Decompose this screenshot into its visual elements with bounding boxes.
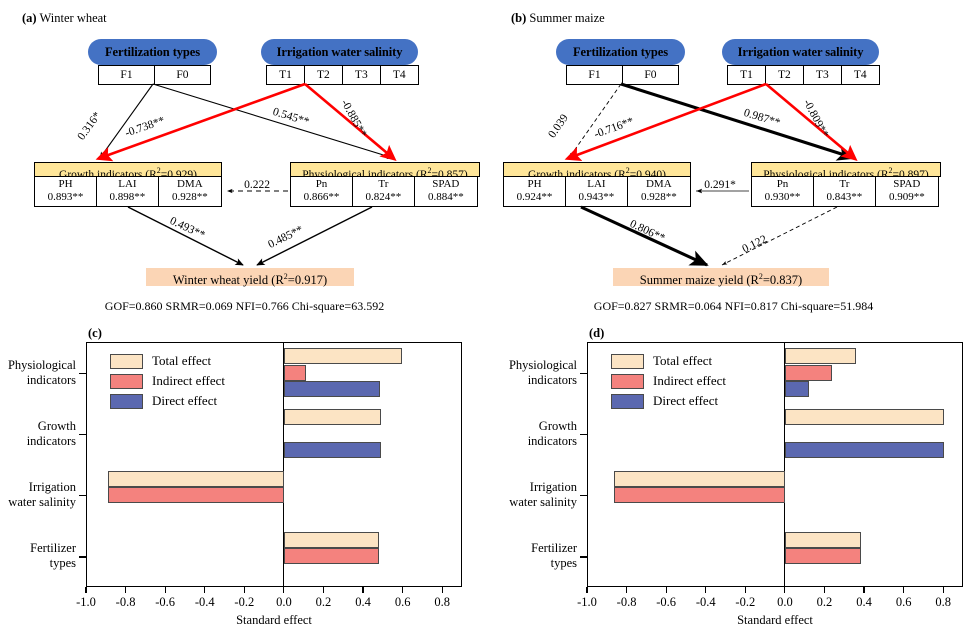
- panel-c-caption: (c): [88, 326, 102, 341]
- x-tick: [362, 587, 363, 593]
- legend-item: Direct effect: [611, 391, 726, 411]
- bar-direct-effect: [284, 381, 380, 397]
- path-label-salinity-growth-a: 0.545**: [271, 106, 310, 128]
- x-tick: [626, 587, 627, 593]
- path-physiological-yield-b: [722, 207, 837, 265]
- x-tick-label: 0.8: [917, 595, 969, 610]
- legend-swatch-direct-effect: [110, 394, 143, 409]
- y-axis-category-label: Physiologicalindicators: [489, 358, 577, 388]
- path-label-fert-physiological-b: -0.716**: [593, 115, 636, 140]
- path-label-salinity-growth-b: 0.987**: [742, 107, 781, 129]
- legend-item: Total effect: [110, 351, 225, 371]
- fit-statistics-a: GOF=0.860 SRMR=0.069 NFI=0.766 Chi-squar…: [0, 299, 489, 314]
- bar-total-effect: [614, 471, 785, 487]
- x-tick-label: 0.8: [416, 595, 468, 610]
- bar-total-effect: [785, 532, 861, 548]
- x-tick: [666, 587, 667, 593]
- x-tick: [442, 587, 443, 593]
- path-label-fert-growth-b: 0.039: [546, 112, 571, 140]
- bar-direct-effect: [785, 442, 945, 458]
- legend-label: Indirect effect: [653, 373, 726, 389]
- legend-item: Direct effect: [110, 391, 225, 411]
- y-tick: [580, 434, 587, 435]
- path-growth-yield-a: [128, 207, 243, 265]
- x-tick: [903, 587, 904, 593]
- path-label-growth-yield-b: 0.806**: [628, 218, 667, 245]
- legend-item: Indirect effect: [611, 371, 726, 391]
- legend-swatch-indirect-effect: [110, 374, 143, 389]
- x-tick: [745, 587, 746, 593]
- legend-label: Total effect: [152, 353, 211, 369]
- legend-swatch-total-effect: [110, 354, 143, 369]
- y-axis-category-label: Physiologicalindicators: [0, 358, 76, 388]
- y-axis-category-label: Fertilizertypes: [489, 541, 577, 571]
- bar-indirect-effect: [785, 365, 832, 381]
- sem-diagram-winter-wheat: (a) Winter wheat Fertilization types F1 …: [0, 0, 489, 318]
- legend-swatch-total-effect: [611, 354, 644, 369]
- legend-label: Direct effect: [653, 393, 718, 409]
- bar-indirect-effect: [614, 487, 785, 503]
- legend-swatch-indirect-effect: [611, 374, 644, 389]
- legend-c: Total effect Indirect effect Direct effe…: [110, 351, 225, 411]
- legend-swatch-direct-effect: [611, 394, 644, 409]
- panel-c-tag: (c): [88, 326, 102, 340]
- y-axis-category-label: Fertilizertypes: [0, 541, 76, 571]
- bar-indirect-effect: [108, 487, 284, 503]
- bar-indirect-effect: [785, 548, 861, 564]
- y-tick: [580, 495, 587, 496]
- x-tick: [283, 587, 284, 593]
- fit-statistics-b: GOF=0.827 SRMR=0.064 NFI=0.817 Chi-squar…: [489, 299, 978, 314]
- x-tick: [705, 587, 706, 593]
- x-tick: [863, 587, 864, 593]
- legend-label: Direct effect: [152, 393, 217, 409]
- x-tick: [204, 587, 205, 593]
- bar-total-effect: [284, 532, 379, 548]
- legend-d: Total effect Indirect effect Direct effe…: [611, 351, 726, 411]
- x-tick: [784, 587, 785, 593]
- x-tick: [323, 587, 324, 593]
- bar-total-effect: [108, 471, 284, 487]
- sem-diagram-summer-maize: (b) Summer maize Fertilization types F1 …: [489, 0, 978, 318]
- bar-chart-winter-wheat: (c) FertilizertypesIrrigationwater salin…: [0, 318, 489, 639]
- bar-total-effect: [284, 348, 402, 364]
- x-tick: [165, 587, 166, 593]
- path-label-salinity-physiological-b: -0.809**: [801, 98, 831, 140]
- path-label-physiological-growth-b: 0.291*: [704, 179, 736, 191]
- path-label-physiological-yield-b: 0.122: [740, 233, 769, 255]
- y-tick: [79, 373, 86, 374]
- y-tick: [79, 434, 86, 435]
- bar-total-effect: [785, 409, 945, 425]
- x-tick: [125, 587, 126, 593]
- x-tick: [943, 587, 944, 593]
- path-label-physiological-yield-a: 0.485**: [266, 224, 305, 251]
- bar-direct-effect: [284, 442, 382, 458]
- y-tick: [580, 373, 587, 374]
- y-axis-category-label: Growthindicators: [489, 419, 577, 449]
- bar-chart-summer-maize: (d) FertilizertypesIrrigationwater salin…: [489, 318, 978, 639]
- bar-total-effect: [284, 409, 382, 425]
- bar-total-effect: [785, 348, 856, 364]
- y-axis-category-label: Growthindicators: [0, 419, 76, 449]
- x-tick: [244, 587, 245, 593]
- x-tick: [824, 587, 825, 593]
- x-axis-title-d: Standard effect: [587, 613, 963, 628]
- legend-item: Indirect effect: [110, 371, 225, 391]
- legend-item: Total effect: [611, 351, 726, 371]
- sem-a-arrows: 0.316* -0.738** 0.545** -0.885** 0.222 0…: [0, 0, 489, 318]
- path-label-fert-growth-a: 0.316*: [75, 110, 103, 143]
- bar-direct-effect: [785, 381, 809, 397]
- x-axis-title-c: Standard effect: [86, 613, 462, 628]
- y-tick: [580, 556, 587, 557]
- sem-b-arrows: 0.039 -0.716** 0.987** -0.809** 0.291* 0…: [489, 0, 978, 318]
- x-tick: [85, 587, 86, 593]
- y-tick: [79, 556, 86, 557]
- path-label-physiological-growth-a: 0.222: [244, 179, 270, 191]
- x-tick: [586, 587, 587, 593]
- panel-d-caption: (d): [589, 326, 604, 341]
- bar-indirect-effect: [284, 365, 306, 381]
- legend-label: Indirect effect: [152, 373, 225, 389]
- panel-d-tag: (d): [589, 326, 604, 340]
- y-tick: [79, 495, 86, 496]
- bar-indirect-effect: [284, 548, 379, 564]
- x-tick: [402, 587, 403, 593]
- path-label-salinity-physiological-a: -0.885**: [338, 98, 369, 140]
- y-axis-category-label: Irrigationwater salinity: [0, 480, 76, 510]
- legend-label: Total effect: [653, 353, 712, 369]
- y-axis-category-label: Irrigationwater salinity: [489, 480, 577, 510]
